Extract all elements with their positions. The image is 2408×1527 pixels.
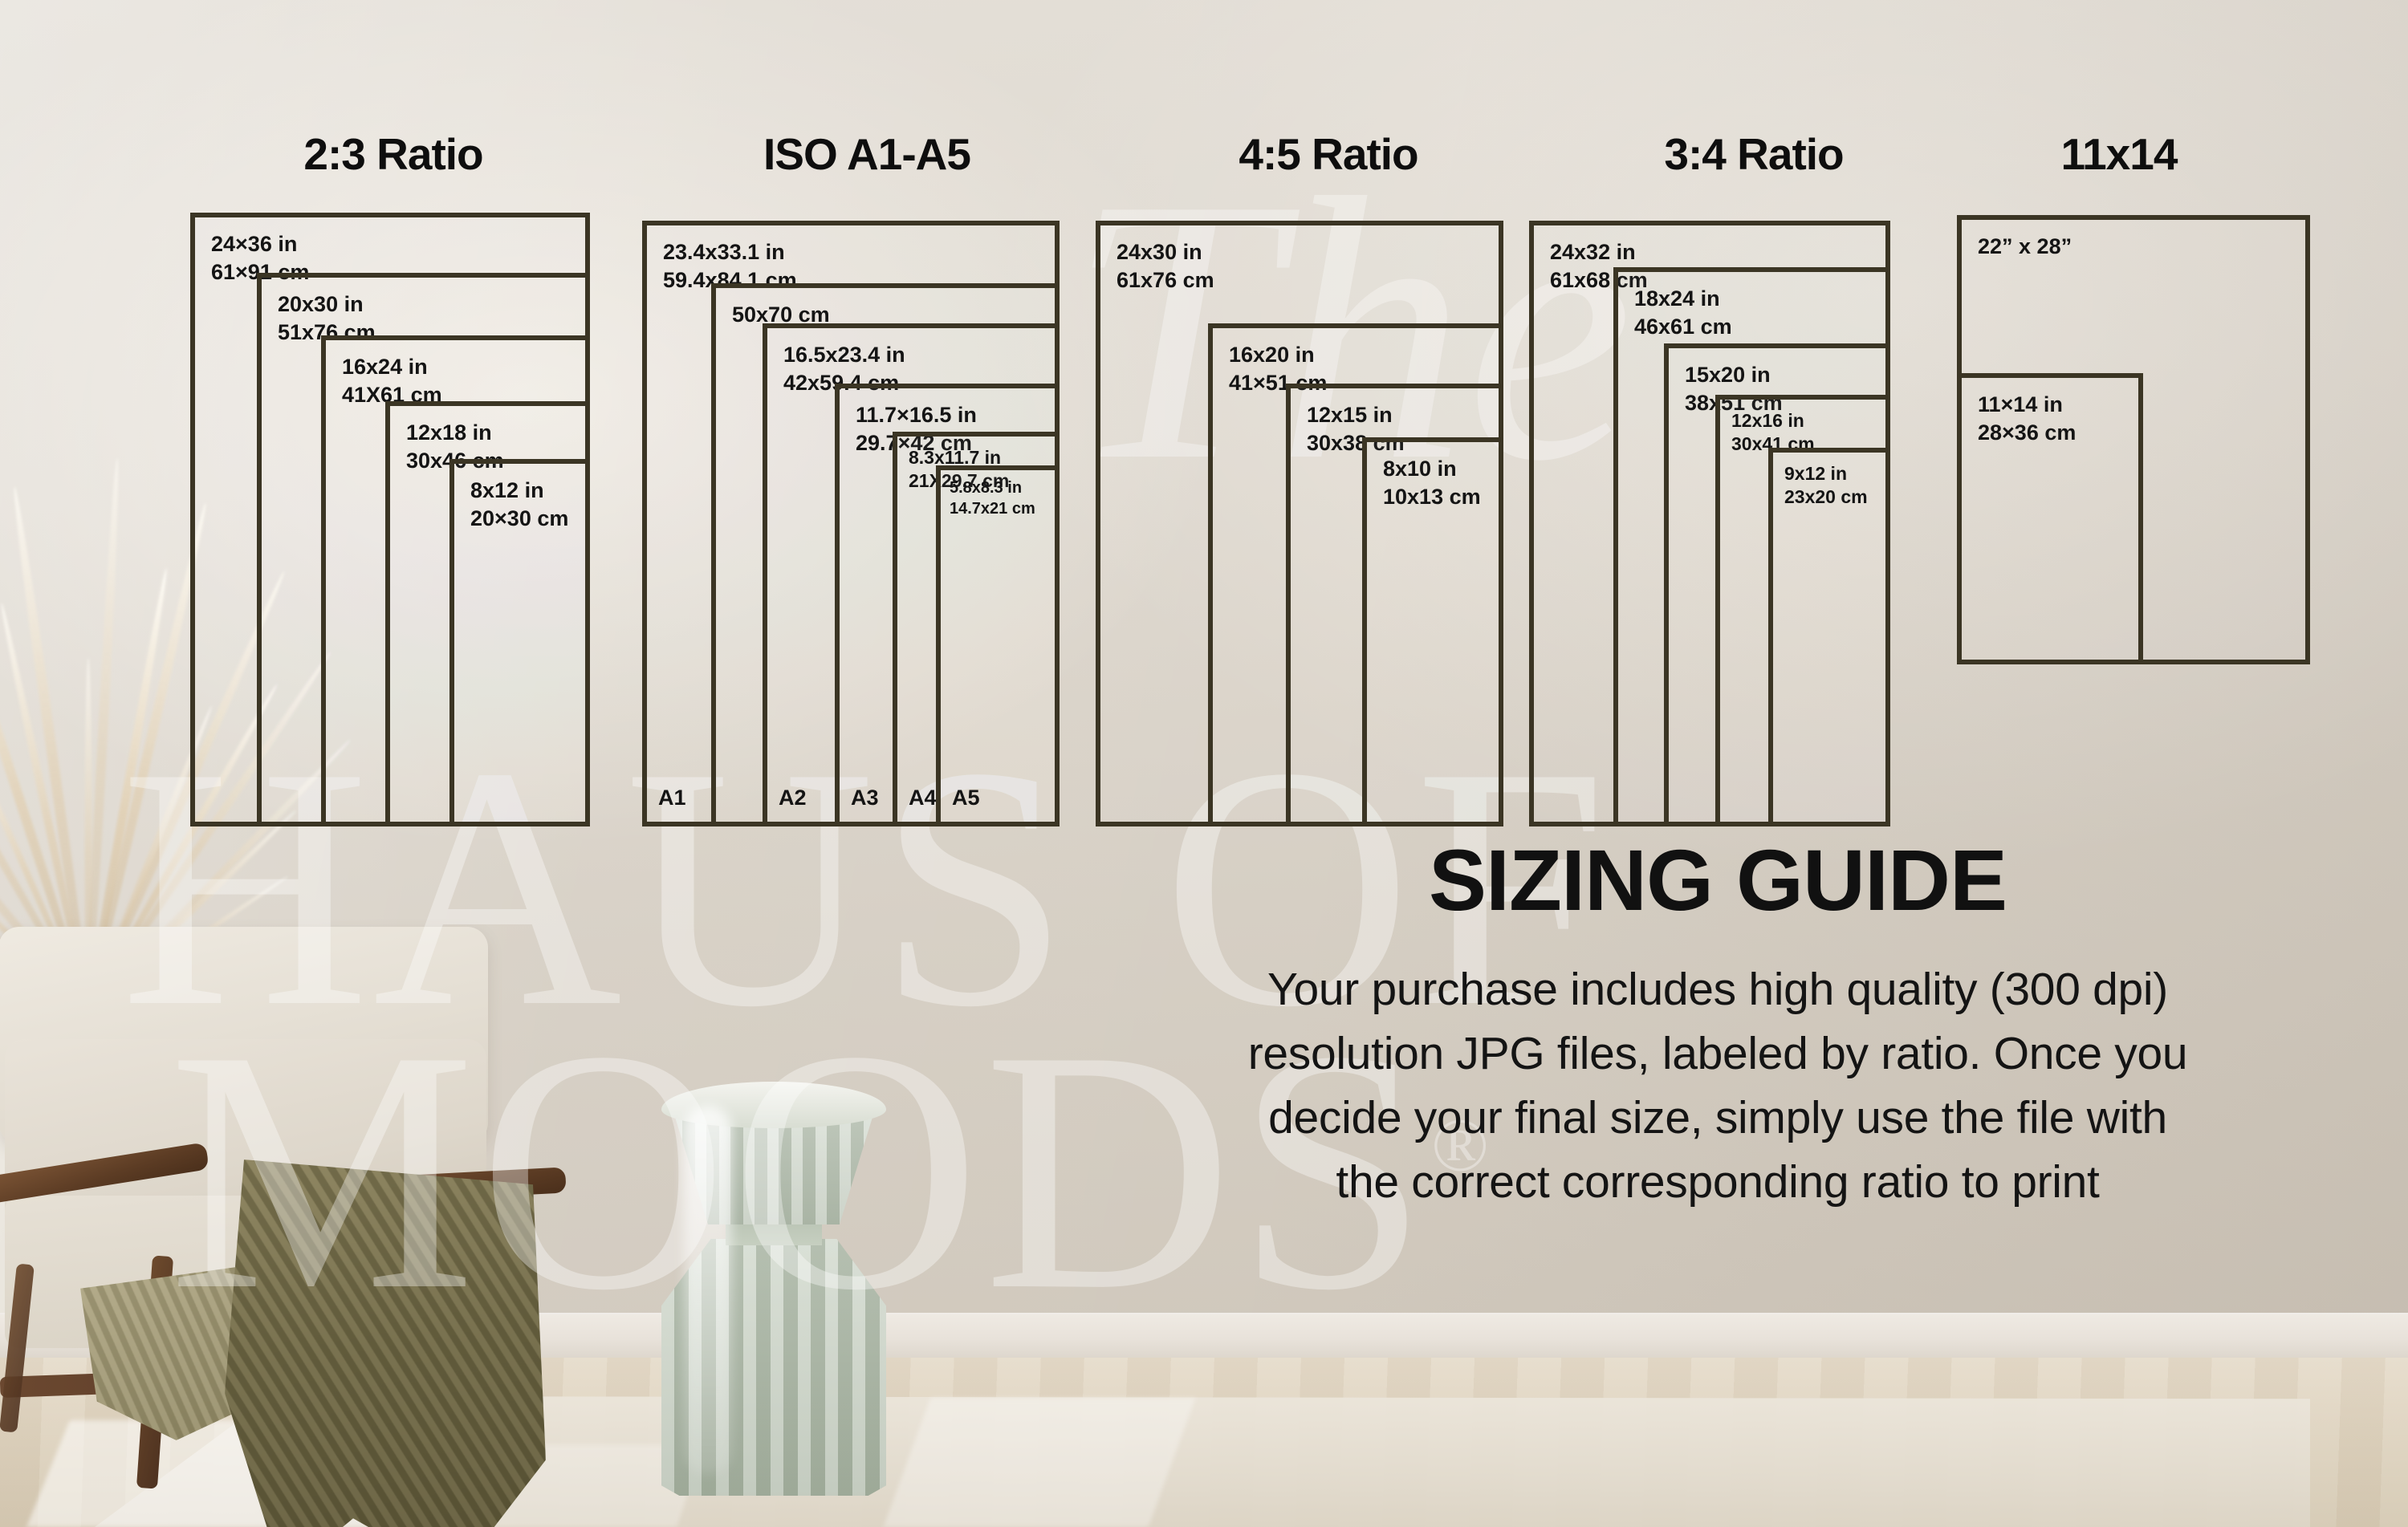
frame-size-in: 24×36 in [211, 232, 297, 256]
frame-11x14: 11×14 in 28×36 cm [1957, 373, 2143, 664]
frame-size-cm: 14.7x21 cm [950, 500, 1035, 518]
sizing-guide-callout: SIZING GUIDE Your purchase includes high… [1043, 835, 2392, 1215]
frame-size-in: 16x20 in [1229, 343, 1315, 367]
column-title-ratio-4-5: 4:5 Ratio [1080, 128, 1577, 180]
body-line-1: Your purchase includes high quality (300… [1043, 958, 2392, 1022]
iso-code-a3: A3 [851, 786, 879, 810]
column-iso-a1-a5: ISO A1-A5 23.4x33.1 in 59.4x84.1 cm A1 5… [634, 128, 1100, 835]
frame-size-cm: 28×36 cm [1978, 420, 2076, 445]
frame-size-in: 24x30 in [1117, 240, 1202, 264]
sizing-guide-body: Your purchase includes high quality (300… [1043, 958, 2392, 1214]
frame-size-in: 16x24 in [342, 355, 428, 379]
frame-size-in: 16.5x23.4 in [783, 343, 905, 367]
body-line-3: decide your final size, simply use the f… [1043, 1086, 2392, 1151]
frame-size-cm: 23x20 cm [1784, 486, 1868, 507]
body-line-4: the correct corresponding ratio to print [1043, 1151, 2392, 1215]
column-11x14: 11x14 22” x 28” 11×14 in 28×36 cm [1942, 128, 2376, 835]
iso-code-a5: A5 [952, 786, 980, 810]
frame-size-in: 11.7×16.5 in [856, 403, 977, 427]
iso-code-a1: A1 [658, 786, 686, 810]
column-ratio-2-3: 2:3 Ratio 24×36 in 61×91 cm 20x30 in 51x… [128, 128, 658, 835]
frame-label: 24x30 in 61x76 cm [1117, 238, 1214, 294]
column-ratio-4-5: 4:5 Ratio 24x30 in 61x76 cm 16x20 in 41×… [1080, 128, 1577, 835]
frame-size-in: 23.4x33.1 in [663, 240, 785, 264]
column-ratio-3-4: 3:4 Ratio 24x32 in 61x68 cm 18x24 in 46x… [1529, 128, 1979, 835]
frame-size-cm: 10x13 cm [1383, 485, 1481, 509]
frame-size-in: 15x20 in [1685, 363, 1771, 387]
column-title-iso: ISO A1-A5 [634, 128, 1100, 180]
frame-size-in: 5.8x8.3 in [950, 479, 1022, 497]
frame-size-cm: 20×30 cm [470, 506, 568, 530]
frame-size-in: 8x10 in [1383, 457, 1457, 481]
frame-size-in: 8x12 in [470, 478, 544, 502]
body-line-2: resolution JPG files, labeled by ratio. … [1043, 1022, 2392, 1086]
sizing-guide-title: SIZING GUIDE [1043, 835, 2392, 926]
frame-label: 11×14 in 28×36 cm [1978, 391, 2076, 446]
frame-label: 5.8x8.3 in 14.7x21 cm [950, 478, 1035, 519]
frame-label: 22” x 28” [1978, 233, 2072, 261]
frame-label: 16x24 in 41X61 cm [342, 353, 442, 408]
frame-size-in: 18x24 in [1634, 286, 1720, 311]
frame-size-in: 22” x 28” [1978, 234, 2072, 258]
column-title-11x14: 11x14 [1942, 128, 2296, 180]
sizing-chart: 2:3 Ratio 24×36 in 61×91 cm 20x30 in 51x… [0, 0, 2408, 1527]
iso-code-a2: A2 [779, 786, 807, 810]
frame-size-in: 12x16 in [1731, 410, 1804, 431]
frame-size-in: 24x32 in [1550, 240, 1636, 264]
frame-size-cm: 46x61 cm [1634, 315, 1732, 339]
frame-size-in: 12x18 in [406, 420, 492, 445]
iso-code-a4: A4 [909, 786, 937, 810]
frame-label: 8x12 in 20×30 cm [470, 477, 568, 532]
frame-label: 8x10 in 10x13 cm [1383, 455, 1481, 510]
frame-size-in: 9x12 in [1784, 463, 1847, 484]
frame-label: 9x12 in 23x20 cm [1784, 462, 1868, 510]
column-title-ratio-2-3: 2:3 Ratio [128, 128, 658, 180]
frame-size-in: 11×14 in [1978, 392, 2063, 416]
frame-size-in: 20x30 in [278, 292, 364, 316]
frame-size-in: 12x15 in [1307, 403, 1393, 427]
column-title-ratio-3-4: 3:4 Ratio [1529, 128, 1979, 180]
frame-8x10: 8x10 in 10x13 cm [1362, 437, 1503, 826]
frame-9x12: 9x12 in 23x20 cm [1768, 448, 1890, 826]
frame-size-cm: 61x76 cm [1117, 268, 1214, 292]
frame-8x12: 8x12 in 20×30 cm [449, 459, 590, 826]
frame-label: 18x24 in 46x61 cm [1634, 285, 1732, 340]
frame-a5: 5.8x8.3 in 14.7x21 cm A5 [936, 465, 1060, 826]
